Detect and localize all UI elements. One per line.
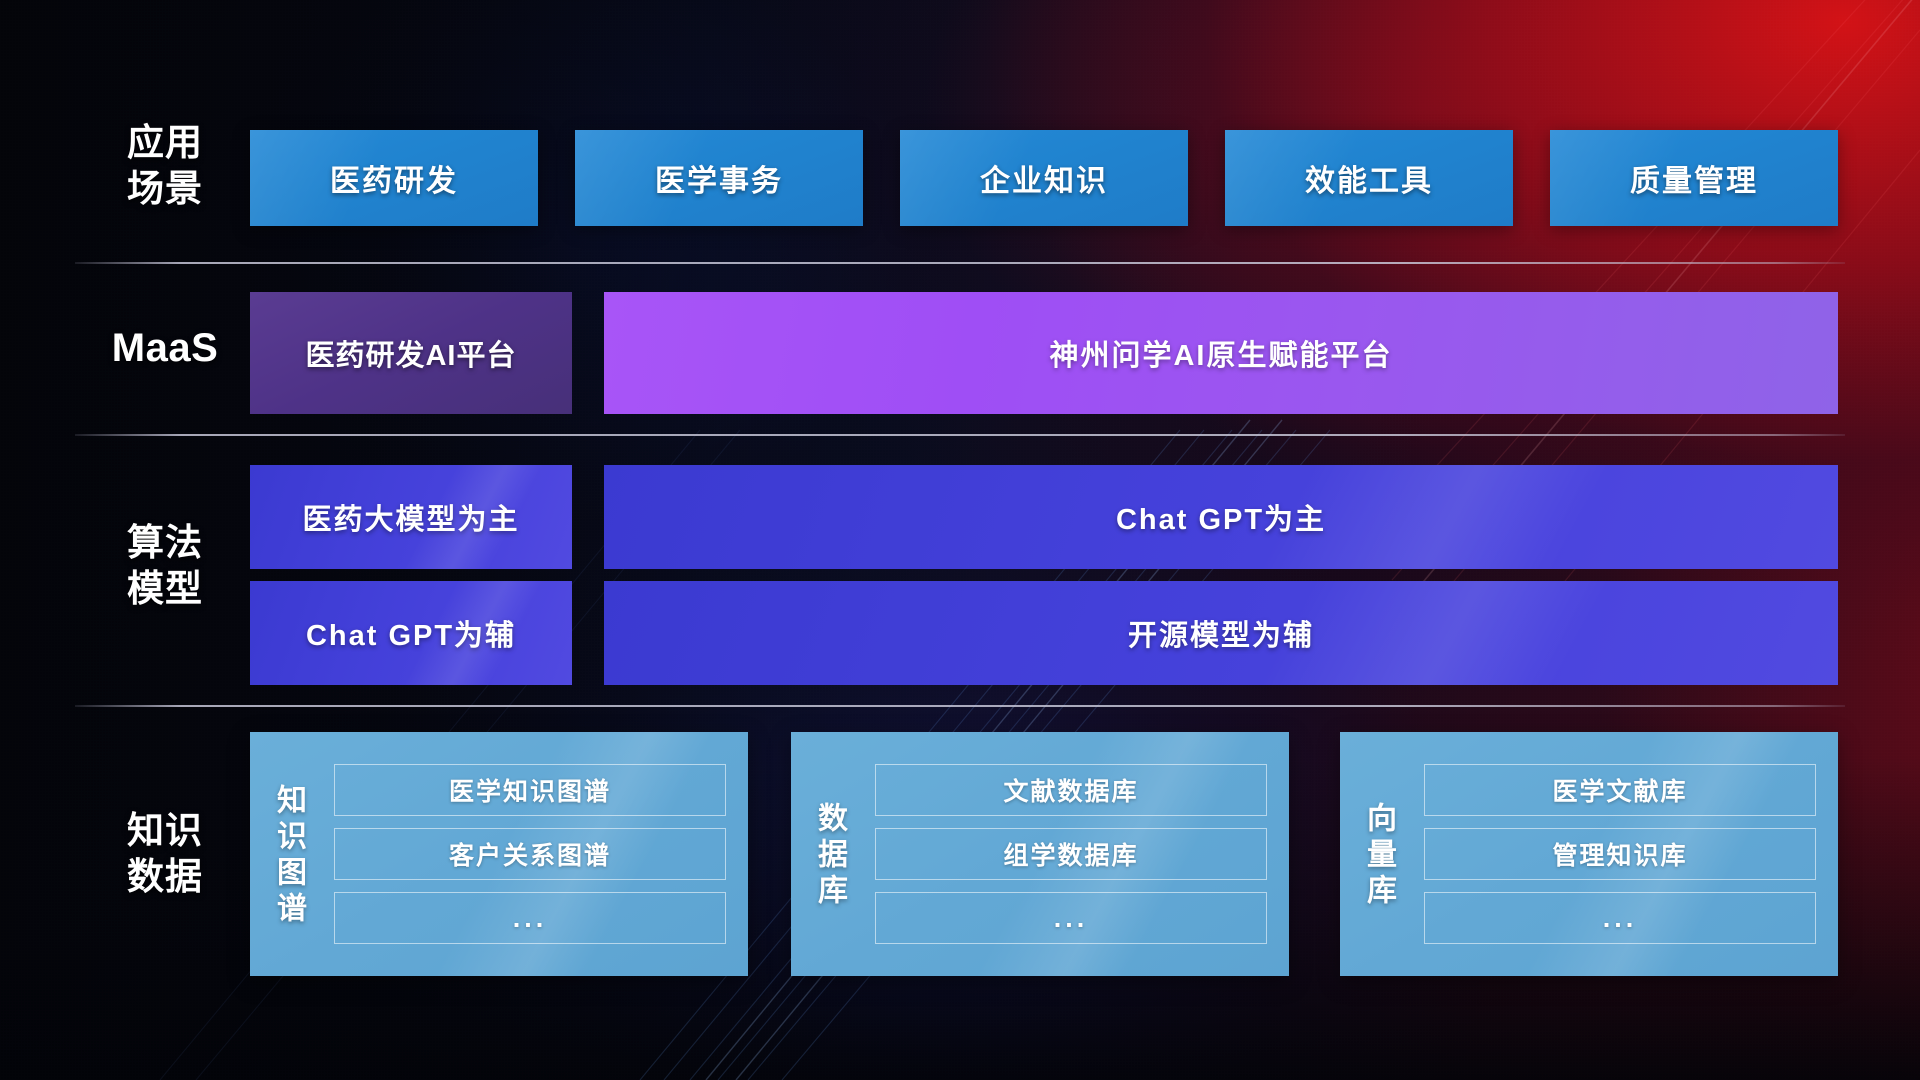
maas-right-label: 神州问学AI原生赋能平台 xyxy=(1049,332,1392,374)
knowledge-card-vector-label: 向量库 xyxy=(1340,732,1416,976)
row-label-knowledge-line1: 知识 xyxy=(90,808,240,854)
row-label-algorithm-line1: 算法 xyxy=(90,520,240,566)
knowledge-card-database-label: 数据库 xyxy=(791,732,867,976)
knowledge-item-label: 管理知识库 xyxy=(1552,836,1687,872)
app-scenario-label-1: 医药研发 xyxy=(330,156,458,200)
knowledge-item-label: 医学知识图谱 xyxy=(449,772,611,808)
divider-algorithm-knowledge xyxy=(75,705,1845,707)
row-label-maas-text: MaaS xyxy=(90,325,240,371)
app-scenario-label-3: 企业知识 xyxy=(980,156,1108,200)
app-scenario-box-4[interactable]: 效能工具 xyxy=(1225,130,1513,226)
maas-left-label: 医药研发AI平台 xyxy=(305,332,516,374)
maas-left-box[interactable]: 医药研发AI平台 xyxy=(250,292,572,414)
app-scenario-box-5[interactable]: 质量管理 xyxy=(1550,130,1838,226)
divider-application-maas xyxy=(75,262,1845,264)
knowledge-item-label: ... xyxy=(513,903,548,934)
knowledge-item-label: ... xyxy=(1603,903,1638,934)
knowledge-item-label: ... xyxy=(1054,903,1089,934)
app-scenario-box-3[interactable]: 企业知识 xyxy=(900,130,1188,226)
knowledge-card-vector[interactable]: 向量库 医学文献库 管理知识库 ... xyxy=(1340,732,1838,976)
divider-maas-algorithm xyxy=(75,434,1845,436)
row-label-knowledge-line2: 数据 xyxy=(90,854,240,900)
knowledge-card-database-items: 文献数据库 组学数据库 ... xyxy=(867,732,1289,976)
row-label-application-line2: 场景 xyxy=(90,166,240,212)
knowledge-item[interactable]: 客户关系图谱 xyxy=(334,828,726,880)
algorithm-left-label-2: Chat GPT为辅 xyxy=(306,612,516,654)
knowledge-item-label: 文献数据库 xyxy=(1003,772,1138,808)
algorithm-right-box-2[interactable]: 开源模型为辅 xyxy=(604,581,1838,685)
algorithm-left-box-1[interactable]: 医药大模型为主 xyxy=(250,465,572,569)
algorithm-right-label-1: Chat GPT为主 xyxy=(1116,496,1326,538)
row-label-knowledge: 知识 数据 xyxy=(90,808,240,900)
app-scenario-label-2: 医学事务 xyxy=(655,156,783,200)
knowledge-item-more[interactable]: ... xyxy=(875,892,1267,944)
app-scenario-label-5: 质量管理 xyxy=(1630,156,1758,200)
app-scenario-box-2[interactable]: 医学事务 xyxy=(575,130,863,226)
knowledge-item-more[interactable]: ... xyxy=(334,892,726,944)
algorithm-left-box-2[interactable]: Chat GPT为辅 xyxy=(250,581,572,685)
row-label-application-line1: 应用 xyxy=(90,120,240,166)
maas-right-box[interactable]: 神州问学AI原生赋能平台 xyxy=(604,292,1838,414)
knowledge-item-more[interactable]: ... xyxy=(1424,892,1816,944)
knowledge-card-graph[interactable]: 知识图谱 医学知识图谱 客户关系图谱 ... xyxy=(250,732,748,976)
algorithm-left-label-1: 医药大模型为主 xyxy=(302,496,519,538)
knowledge-item-label: 组学数据库 xyxy=(1003,836,1138,872)
knowledge-card-graph-label: 知识图谱 xyxy=(250,732,326,976)
knowledge-item[interactable]: 医学文献库 xyxy=(1424,764,1816,816)
algorithm-right-label-2: 开源模型为辅 xyxy=(1128,612,1314,654)
knowledge-item[interactable]: 组学数据库 xyxy=(875,828,1267,880)
row-label-application: 应用 场景 xyxy=(90,120,240,212)
knowledge-item-label: 客户关系图谱 xyxy=(449,836,611,872)
algorithm-right-box-1[interactable]: Chat GPT为主 xyxy=(604,465,1838,569)
knowledge-card-database[interactable]: 数据库 文献数据库 组学数据库 ... xyxy=(791,732,1289,976)
app-scenario-label-4: 效能工具 xyxy=(1305,156,1433,200)
row-label-algorithm-line2: 模型 xyxy=(90,566,240,612)
knowledge-card-graph-items: 医学知识图谱 客户关系图谱 ... xyxy=(326,732,748,976)
knowledge-item[interactable]: 医学知识图谱 xyxy=(334,764,726,816)
knowledge-item[interactable]: 文献数据库 xyxy=(875,764,1267,816)
app-scenario-box-1[interactable]: 医药研发 xyxy=(250,130,538,226)
row-label-maas: MaaS xyxy=(90,325,240,371)
row-label-algorithm: 算法 模型 xyxy=(90,520,240,612)
knowledge-card-vector-items: 医学文献库 管理知识库 ... xyxy=(1416,732,1838,976)
knowledge-item-label: 医学文献库 xyxy=(1552,772,1687,808)
knowledge-item[interactable]: 管理知识库 xyxy=(1424,828,1816,880)
